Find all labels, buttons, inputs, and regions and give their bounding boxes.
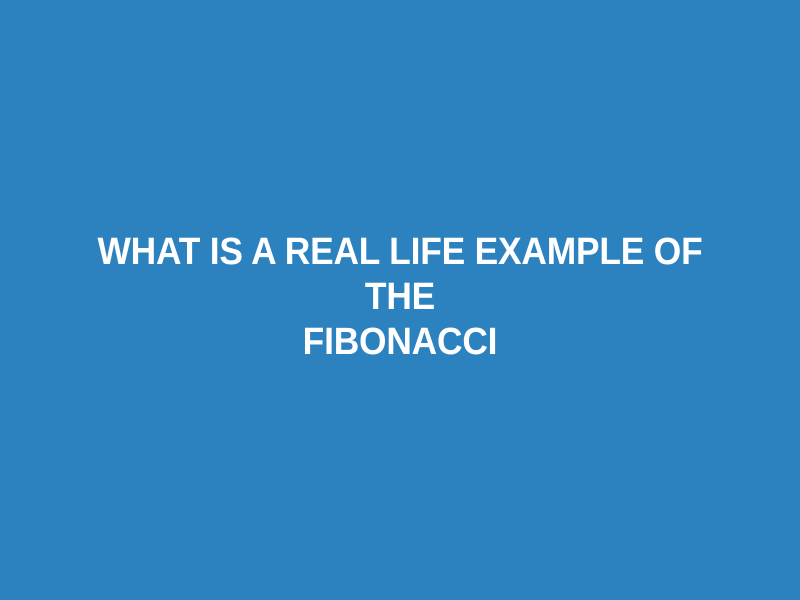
page-title: WHAT IS A REAL LIFE EXAMPLE OF THE FIBON… xyxy=(93,230,707,365)
hero-banner: WHAT IS A REAL LIFE EXAMPLE OF THE FIBON… xyxy=(0,0,800,600)
title-block: WHAT IS A REAL LIFE EXAMPLE OF THE FIBON… xyxy=(70,230,730,365)
